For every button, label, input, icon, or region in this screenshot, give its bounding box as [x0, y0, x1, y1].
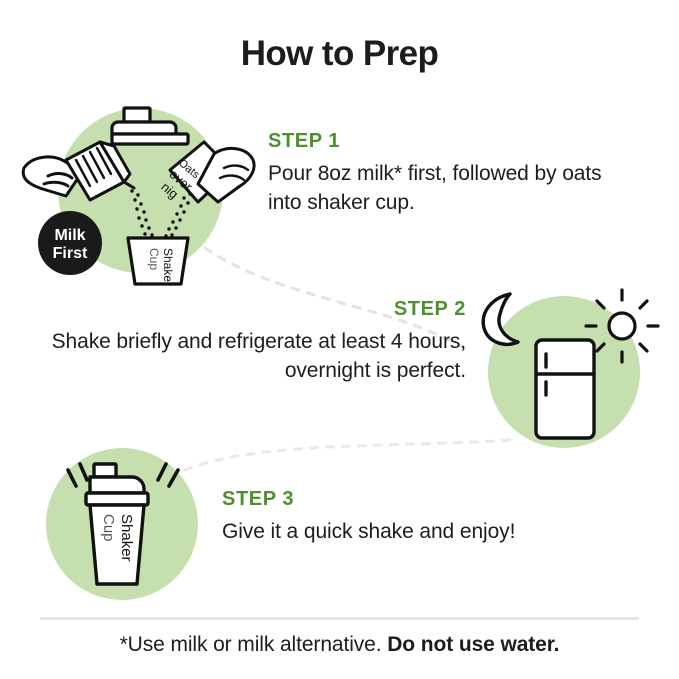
footnote-bold-text: Do not use water.: [387, 633, 559, 656]
sun-icon: [586, 290, 658, 362]
infographic-page: How to Prep: [0, 0, 679, 679]
refrigerator-icon: [536, 340, 594, 438]
cup-label-line2: Cup: [100, 514, 117, 542]
moon-icon: [483, 294, 518, 344]
hand-pouring-milk-icon: [23, 142, 134, 200]
shaker-lid-icon: [112, 108, 188, 144]
connector-step3-to-step2: [185, 440, 510, 470]
oats-pour-stream-icon: [164, 192, 191, 237]
step-3-body: Give it a quick shake and enjoy!: [222, 518, 642, 547]
page-title: How to Prep: [0, 34, 679, 74]
step-1-illustration: Oats over nig Shake: [18, 98, 258, 288]
cup-label-line1: Shaker: [161, 248, 175, 286]
milk-pour-stream-icon: [130, 189, 153, 236]
step-1-label: STEP 1: [268, 130, 628, 153]
step-1-body: Pour 8oz milk* first, followed by oats i…: [268, 160, 628, 218]
step-2-illustration: [470, 286, 665, 461]
footnote: *Use milk or milk alternative. Do not us…: [0, 633, 679, 657]
step-3-label: STEP 3: [222, 488, 642, 511]
badge-text-line2: First: [53, 245, 88, 262]
step-2-body: Shake briefly and refrigerate at least 4…: [46, 328, 466, 386]
cup-label-line2: Cup: [147, 248, 161, 270]
step-2-text-block: STEP 2 Shake briefly and refrigerate at …: [46, 298, 466, 386]
footnote-normal-text: *Use milk or milk alternative.: [120, 633, 388, 656]
milk-first-badge: Milk First: [38, 211, 102, 275]
footer-divider: [40, 617, 639, 620]
step-3-illustration: Shaker Cup: [38, 438, 228, 618]
cup-label-line1: Shaker: [118, 514, 135, 562]
step-2-label: STEP 2: [46, 298, 466, 321]
step-3-text-block: STEP 3 Give it a quick shake and enjoy!: [222, 488, 642, 547]
badge-text-line1: Milk: [54, 227, 85, 244]
step-1-text-block: STEP 1 Pour 8oz milk* first, followed by…: [268, 130, 628, 218]
